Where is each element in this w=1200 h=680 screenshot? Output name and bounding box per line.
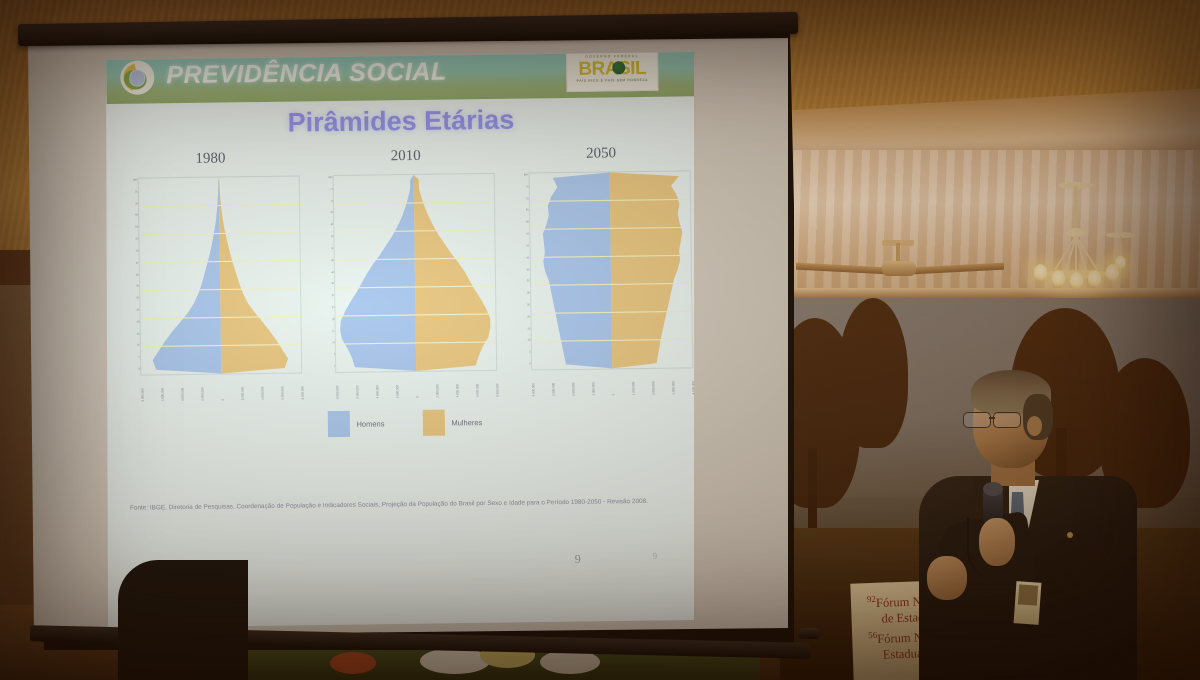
x-tick-label: 4.000.000 bbox=[456, 384, 460, 397]
x-tick-label: 1.000.000 bbox=[591, 382, 595, 395]
x-axis-2050: 4.000.0003.000.0002.000.0001.000.00001.0… bbox=[531, 368, 691, 398]
screen-pull-knob[interactable] bbox=[798, 628, 820, 639]
glasses-bridge bbox=[989, 417, 995, 419]
glasses-lens-right bbox=[993, 412, 1021, 428]
legend-item-mulheres: Mulheres bbox=[422, 409, 482, 436]
slide-page-number-secondary: 9 bbox=[653, 551, 658, 561]
chandelier-bulb bbox=[1034, 264, 1047, 281]
chart-plot-area-2050 bbox=[528, 170, 693, 370]
pyramid-chart-1980: 1980 05101520253035404550556065707580+ 8… bbox=[115, 149, 308, 406]
x-tick-label: 2.000.000 bbox=[436, 384, 440, 397]
x-tick-label: 0 bbox=[611, 394, 615, 396]
forum-number-1: 92 bbox=[867, 594, 876, 604]
chandelier2-bulb bbox=[1115, 256, 1125, 270]
brasil-government-logo: GOVERNO FEDERAL BRASIL PAÍS RICO É PAÍS … bbox=[566, 52, 659, 92]
x-tick-label: 6.000.000 bbox=[160, 388, 164, 401]
x-tick-label: 4.000.000 bbox=[376, 385, 380, 398]
forum-number-2: 56 bbox=[868, 630, 877, 640]
glasses-lens-left bbox=[963, 412, 991, 428]
fan-rod bbox=[896, 243, 900, 263]
pyramid-chart-2010: 2010 05101520253035404550556065707580+ 8… bbox=[311, 147, 504, 404]
slide-title: Pirâmides Etárias bbox=[107, 102, 694, 141]
chart-year-label: 2050 bbox=[506, 144, 694, 163]
chandelier2-rod bbox=[1120, 236, 1122, 256]
presenter-id-badge bbox=[1014, 581, 1042, 625]
x-tick-label: 2.000.000 bbox=[651, 381, 655, 394]
chandelier-bulb bbox=[1088, 270, 1101, 287]
x-tick-label: 8.000.000 bbox=[300, 386, 304, 399]
chart-year-label: 2010 bbox=[311, 147, 501, 166]
chandelier-arm bbox=[1075, 235, 1098, 270]
x-tick-label: 3.000.000 bbox=[551, 383, 555, 396]
x-tick-label: 0 bbox=[416, 396, 420, 398]
chart-plot-area-1980 bbox=[138, 175, 303, 375]
x-tick-label: 6.000.000 bbox=[280, 386, 284, 399]
projected-slide: PREVIDÊNCIA SOCIAL GOVERNO FEDERAL BRASI… bbox=[106, 52, 694, 628]
x-tick-label: 6.000.000 bbox=[356, 385, 360, 398]
brasil-globe-icon bbox=[612, 61, 625, 74]
podium-shadow bbox=[118, 560, 248, 680]
legend-label-homens: Homens bbox=[356, 419, 384, 428]
pyramid-svg-2050 bbox=[529, 171, 692, 369]
chart-plot-area-2010 bbox=[333, 173, 498, 373]
legend-swatch-mulheres bbox=[422, 410, 444, 436]
presentation-room-photo: PREVIDÊNCIA SOCIAL GOVERNO FEDERAL BRASI… bbox=[0, 0, 1200, 680]
slide-header: PREVIDÊNCIA SOCIAL GOVERNO FEDERAL BRASI… bbox=[106, 52, 694, 104]
lapel-pin-icon bbox=[1067, 532, 1073, 538]
chandelier-secondary-icon bbox=[1098, 232, 1144, 268]
ceiling-beam bbox=[760, 288, 1200, 298]
fan-motor bbox=[882, 261, 916, 276]
x-tick-label: 1.000.000 bbox=[631, 382, 635, 395]
slide-source-note: Fonte: IBGE, Diretoria de Pesquisas, Coo… bbox=[130, 497, 650, 514]
chart-year-label: 1980 bbox=[115, 149, 305, 168]
x-tick-label: 4.000.000 bbox=[180, 388, 184, 401]
glasses-icon bbox=[963, 412, 1029, 428]
x-tick-label: 4.000.000 bbox=[691, 381, 694, 394]
presenter-hand-mic bbox=[979, 518, 1015, 566]
presenter bbox=[905, 368, 1145, 680]
pyramid-charts: 1980 05101520253035404550556065707580+ 8… bbox=[115, 144, 694, 407]
x-tick-label: 6.000.000 bbox=[476, 384, 480, 397]
ceiling-fan-icon bbox=[800, 243, 1000, 289]
previdencia-social-logo-icon bbox=[120, 60, 154, 94]
presenter-ear bbox=[1027, 416, 1042, 436]
brasil-wordmark: BRASIL bbox=[568, 59, 656, 79]
legend-item-homens: Homens bbox=[327, 410, 384, 437]
projection-screen: PREVIDÊNCIA SOCIAL GOVERNO FEDERAL BRASI… bbox=[6, 8, 816, 658]
x-tick-label: 2.000.000 bbox=[396, 385, 400, 398]
x-tick-label: 4.000.000 bbox=[260, 387, 264, 400]
badge-photo bbox=[1018, 584, 1038, 605]
presenter-hand-left bbox=[927, 556, 967, 600]
slide-page-number: 9 bbox=[575, 552, 581, 567]
pyramid-svg-2010 bbox=[334, 174, 497, 372]
x-tick-label: 2.000.000 bbox=[240, 387, 244, 400]
x-tick-label: 2.000.000 bbox=[200, 387, 204, 400]
x-axis-1980: 8.000.0006.000.0004.000.0002.000.00002.0… bbox=[140, 373, 300, 403]
x-tick-label: 8.000.000 bbox=[140, 388, 144, 401]
chandelier-rod bbox=[1074, 186, 1077, 234]
chandelier-bulb bbox=[1052, 270, 1065, 287]
x-tick-label: 3.000.000 bbox=[671, 381, 675, 394]
pyramid-chart-2050: 2050 05101520253035404550556065707580+ 4… bbox=[506, 144, 694, 401]
legend-label-mulheres: Mulheres bbox=[451, 418, 482, 427]
x-tick-label: 8.000.000 bbox=[336, 386, 340, 399]
legend-swatch-homens bbox=[327, 411, 349, 437]
x-axis-2010: 8.000.0006.000.0004.000.0002.000.00002.0… bbox=[336, 371, 496, 401]
org-name: PREVIDÊNCIA SOCIAL bbox=[166, 58, 447, 91]
x-tick-label: 4.000.000 bbox=[531, 383, 535, 396]
x-tick-label: 8.000.000 bbox=[496, 384, 500, 397]
x-tick-label: 0 bbox=[221, 399, 225, 401]
x-tick-label: 2.000.000 bbox=[571, 383, 575, 396]
microphone-head bbox=[983, 482, 1003, 496]
chart-legend: Homens Mulheres bbox=[111, 406, 694, 440]
chandelier-bulb bbox=[1070, 272, 1083, 289]
fan-blade-right bbox=[912, 263, 1004, 275]
pyramid-svg-1980 bbox=[139, 176, 302, 374]
